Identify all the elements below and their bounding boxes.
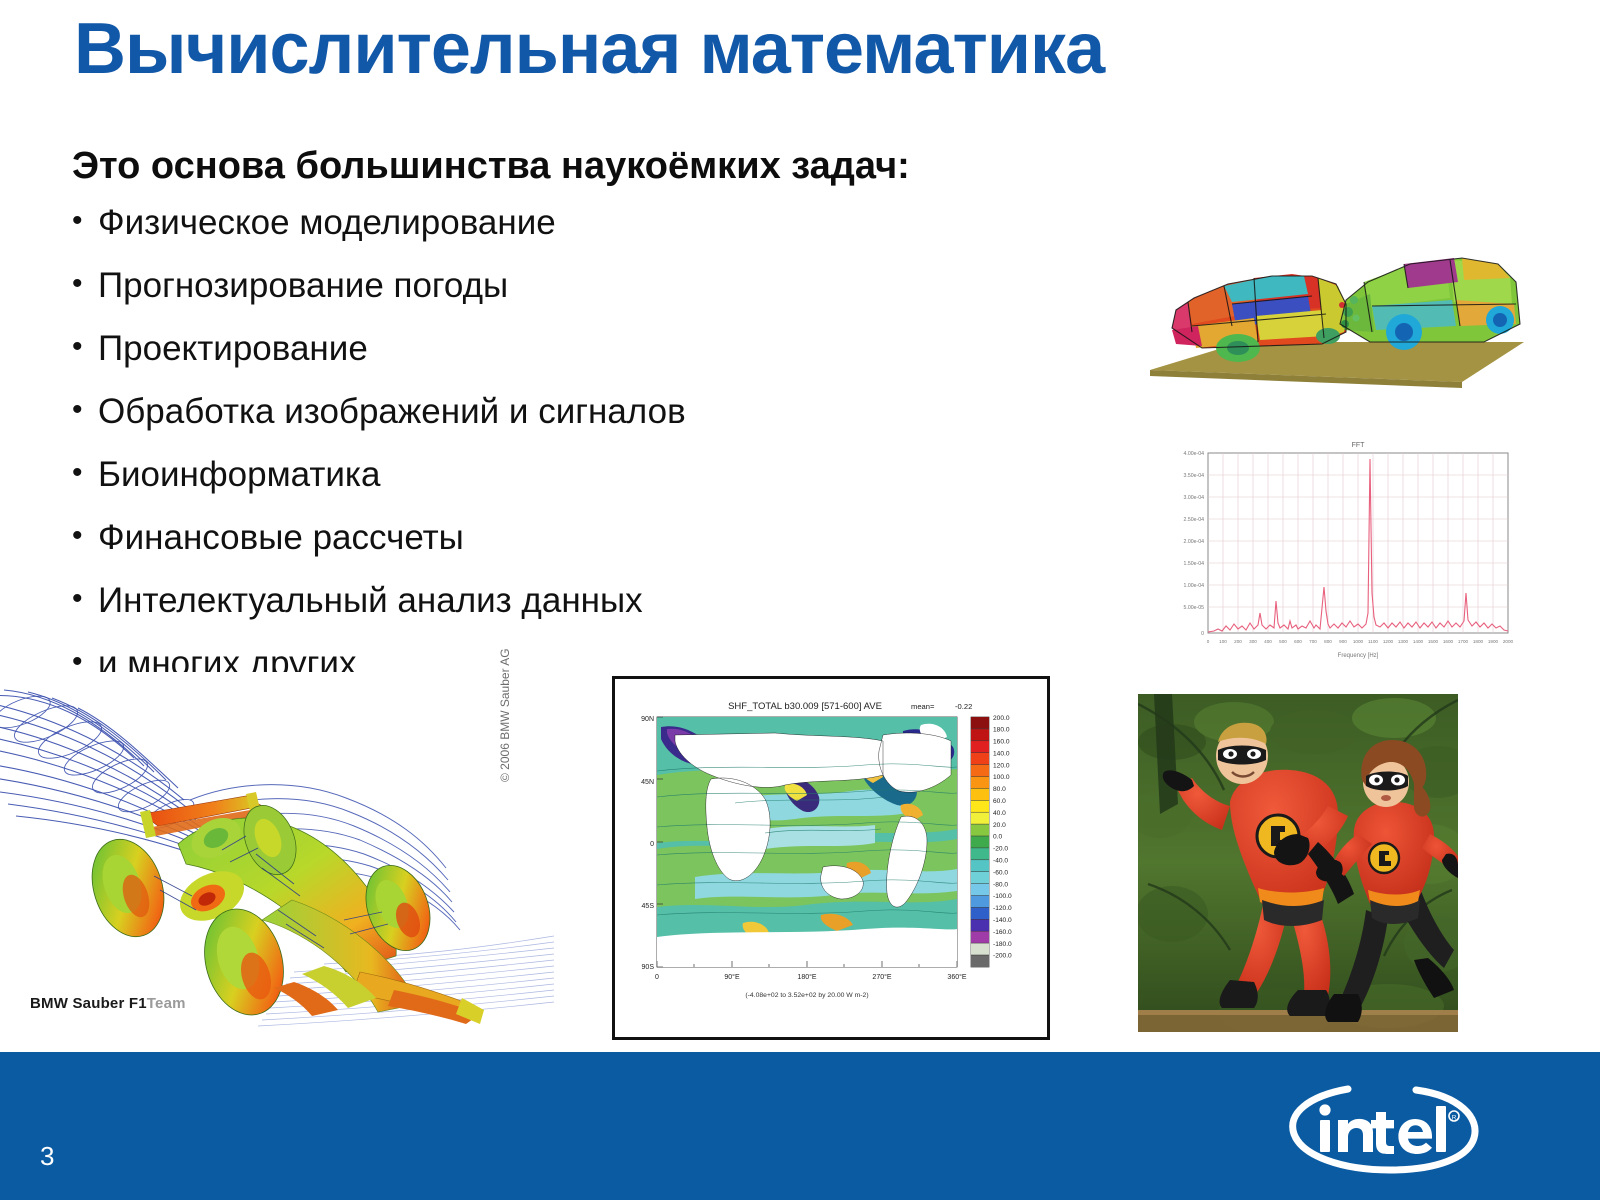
list-item-label: Интелектуальный анализ данных bbox=[98, 583, 643, 618]
svg-text:mean=: mean= bbox=[911, 702, 935, 711]
lead-text: Это основа большинства наукоёмких задач: bbox=[72, 145, 910, 188]
svg-text:2000: 2000 bbox=[1503, 639, 1514, 644]
svg-text:600: 600 bbox=[1294, 639, 1302, 644]
svg-text:3.50e-04: 3.50e-04 bbox=[1184, 473, 1205, 479]
list-item: • Обработка изображений и сигналов bbox=[72, 394, 972, 457]
svg-text:200: 200 bbox=[1234, 639, 1242, 644]
svg-text:Frequency [Hz]: Frequency [Hz] bbox=[1338, 653, 1379, 659]
svg-text:140.0: 140.0 bbox=[993, 750, 1010, 757]
svg-text:160.0: 160.0 bbox=[993, 739, 1010, 746]
list-item: • Проектирование bbox=[72, 331, 972, 394]
bullet-marker-icon: • bbox=[72, 394, 98, 426]
svg-text:4.00e-04: 4.00e-04 bbox=[1184, 451, 1205, 457]
svg-text:270°E: 270°E bbox=[872, 973, 891, 981]
svg-text:1600: 1600 bbox=[1443, 639, 1454, 644]
svg-text:120.0: 120.0 bbox=[993, 762, 1010, 769]
svg-text:300: 300 bbox=[1249, 639, 1257, 644]
list-item: • Интелектуальный анализ данных bbox=[72, 583, 972, 646]
figure-ocean-heatflux-map: SHF_TOTAL b30.009 [571-600] AVE mean= -0… bbox=[612, 676, 1050, 1040]
svg-text:200.0: 200.0 bbox=[993, 715, 1010, 722]
svg-text:3.00e-04: 3.00e-04 bbox=[1184, 495, 1205, 501]
svg-text:800: 800 bbox=[1324, 639, 1332, 644]
bullet-list: • Физическое моделирование • Прогнозиров… bbox=[72, 205, 972, 709]
list-item-label: Обработка изображений и сигналов bbox=[98, 394, 686, 429]
svg-text:1500: 1500 bbox=[1428, 639, 1439, 644]
svg-text:SHF_TOTAL b30.009 [571-600] AV: SHF_TOTAL b30.009 [571-600] AVE bbox=[728, 701, 882, 712]
svg-text:1200: 1200 bbox=[1383, 639, 1394, 644]
svg-text:0.0: 0.0 bbox=[993, 834, 1002, 841]
svg-text:-40.0: -40.0 bbox=[993, 858, 1008, 865]
svg-text:0: 0 bbox=[1201, 631, 1204, 637]
svg-text:1000: 1000 bbox=[1353, 639, 1364, 644]
svg-text:45N: 45N bbox=[641, 779, 654, 786]
page-title: Вычислительная математика bbox=[74, 8, 1104, 90]
figure-crash-simulation bbox=[1132, 220, 1530, 398]
svg-text:2.00e-04: 2.00e-04 bbox=[1184, 539, 1205, 545]
svg-text:1700: 1700 bbox=[1458, 639, 1469, 644]
bullet-marker-icon: • bbox=[72, 268, 98, 300]
svg-text:0: 0 bbox=[655, 974, 659, 981]
svg-text:-180.0: -180.0 bbox=[993, 941, 1012, 948]
svg-text:180.0: 180.0 bbox=[993, 727, 1010, 734]
bmw-copyright: © 2006 BMW Sauber AG bbox=[498, 648, 512, 782]
svg-text:1.50e-04: 1.50e-04 bbox=[1184, 561, 1205, 567]
list-item-label: Физическое моделирование bbox=[98, 205, 556, 240]
svg-text:700: 700 bbox=[1309, 639, 1317, 644]
svg-text:100.0: 100.0 bbox=[993, 774, 1010, 781]
svg-text:-100.0: -100.0 bbox=[993, 893, 1012, 900]
figure-fft-spectrum: FFT 4.00e-04 3.50e-04 3.00e-04 2.50e-04 … bbox=[1130, 425, 1530, 670]
svg-text:90°E: 90°E bbox=[724, 973, 740, 981]
svg-text:90S: 90S bbox=[642, 964, 655, 971]
svg-text:2.50e-04: 2.50e-04 bbox=[1184, 517, 1205, 523]
svg-text:-160.0: -160.0 bbox=[993, 929, 1012, 936]
svg-text:-0.22: -0.22 bbox=[955, 702, 972, 711]
svg-text:1800: 1800 bbox=[1473, 639, 1484, 644]
list-item: • Биоинформатика bbox=[72, 457, 972, 520]
svg-text:500: 500 bbox=[1279, 639, 1287, 644]
intel-logo: R bbox=[1284, 1074, 1494, 1180]
svg-text:1900: 1900 bbox=[1488, 639, 1499, 644]
list-item: • Физическое моделирование bbox=[72, 205, 972, 268]
slide: Вычислительная математика Это основа бол… bbox=[0, 0, 1600, 1200]
bullet-marker-icon: • bbox=[72, 520, 98, 552]
svg-text:400: 400 bbox=[1264, 639, 1272, 644]
svg-text:1.00e-04: 1.00e-04 bbox=[1184, 583, 1205, 589]
bullet-marker-icon: • bbox=[72, 583, 98, 615]
list-item: • Финансовые рассчеты bbox=[72, 520, 972, 583]
f1-caption-bold: BMW Sauber F1 bbox=[30, 995, 147, 1012]
svg-text:-200.0: -200.0 bbox=[993, 953, 1012, 960]
f1-caption-light: Team bbox=[147, 995, 186, 1012]
bullet-marker-icon: • bbox=[72, 331, 98, 363]
list-item-label: Финансовые рассчеты bbox=[98, 520, 464, 555]
list-item: • Прогнозирование погоды bbox=[72, 268, 972, 331]
list-item-label: Прогнозирование погоды bbox=[98, 268, 508, 303]
svg-text:-80.0: -80.0 bbox=[993, 881, 1008, 888]
svg-text:80.0: 80.0 bbox=[993, 786, 1006, 793]
svg-text:60.0: 60.0 bbox=[993, 798, 1006, 805]
page-number: 3 bbox=[40, 1141, 54, 1172]
bullet-marker-icon: • bbox=[72, 205, 98, 237]
svg-text:-120.0: -120.0 bbox=[993, 905, 1012, 912]
svg-text:(-4.08e+02 to 3.52e+02 by 20.0: (-4.08e+02 to 3.52e+02 by 20.00 W m-2) bbox=[745, 992, 868, 999]
svg-text:360°E: 360°E bbox=[947, 973, 966, 981]
svg-text:-140.0: -140.0 bbox=[993, 917, 1012, 924]
figure-f1-cfd bbox=[0, 672, 554, 1032]
svg-text:1100: 1100 bbox=[1368, 639, 1378, 644]
svg-text:5.00e-05: 5.00e-05 bbox=[1184, 605, 1205, 611]
svg-text:100: 100 bbox=[1219, 639, 1227, 644]
f1-caption: BMW Sauber F1Team bbox=[30, 995, 186, 1012]
list-item-label: Биоинформатика bbox=[98, 457, 380, 492]
svg-text:FFT: FFT bbox=[1352, 442, 1366, 449]
svg-text:45S: 45S bbox=[642, 903, 655, 910]
svg-text:1300: 1300 bbox=[1398, 639, 1409, 644]
footer-bar: 3 bbox=[0, 1052, 1600, 1200]
svg-text:R: R bbox=[1452, 1114, 1457, 1121]
bullet-marker-icon: • bbox=[72, 457, 98, 489]
svg-text:180°E: 180°E bbox=[797, 973, 816, 981]
svg-text:-20.0: -20.0 bbox=[993, 846, 1008, 853]
svg-text:900: 900 bbox=[1339, 639, 1347, 644]
svg-text:-60.0: -60.0 bbox=[993, 869, 1008, 876]
svg-text:40.0: 40.0 bbox=[993, 810, 1006, 817]
svg-text:0: 0 bbox=[1207, 639, 1210, 644]
svg-text:20.0: 20.0 bbox=[993, 822, 1006, 829]
svg-text:0: 0 bbox=[650, 841, 654, 848]
list-item-label: Проектирование bbox=[98, 331, 368, 366]
figure-incredibles bbox=[1138, 694, 1458, 1032]
svg-text:1400: 1400 bbox=[1413, 639, 1424, 644]
svg-text:90N: 90N bbox=[641, 716, 654, 723]
